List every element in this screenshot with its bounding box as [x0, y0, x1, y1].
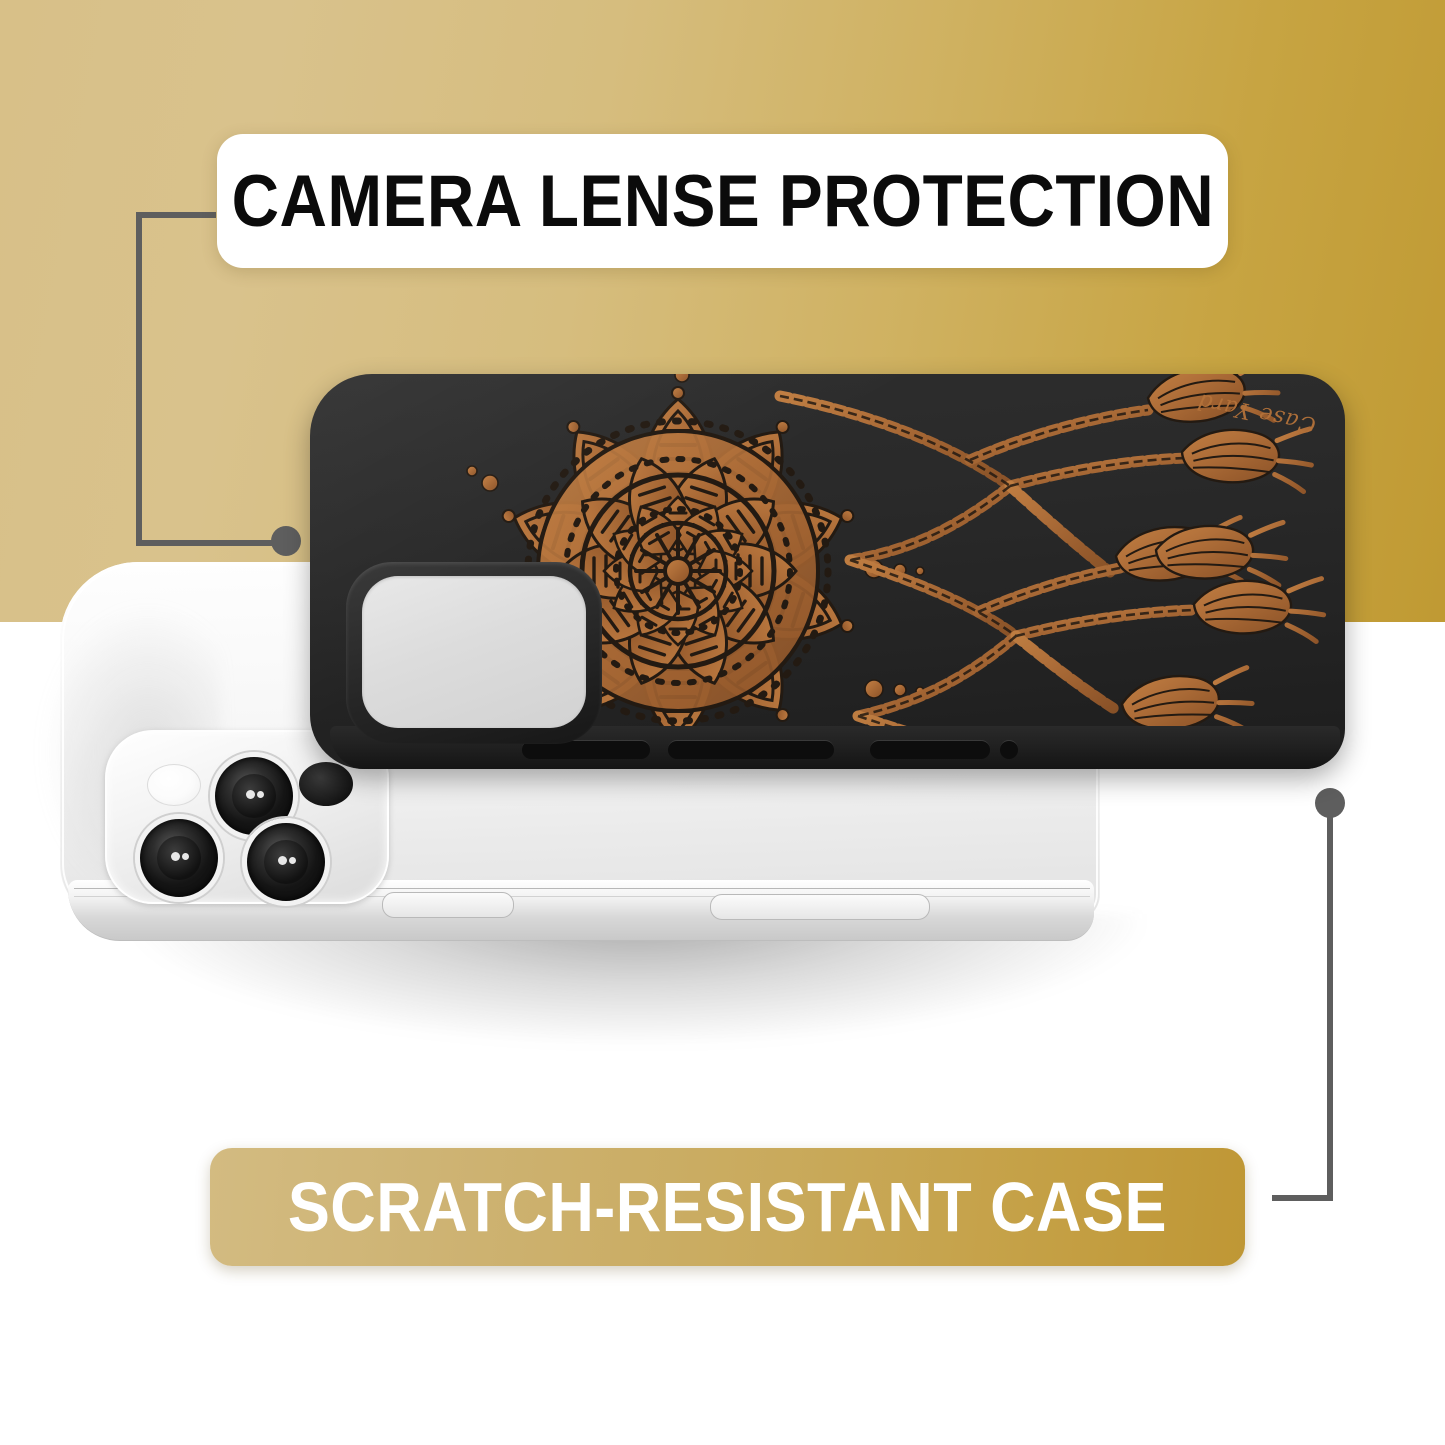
camera-lens-icon: [135, 814, 223, 902]
callout-label-camera-protection: CAMERA LENSE PROTECTION: [217, 134, 1228, 268]
callout-dot-camera-protection: [271, 526, 301, 556]
case-body: Case Yard: [310, 374, 1345, 769]
black-mandala-phone-case: Case Yard: [310, 374, 1345, 774]
callout-connector-top-vertical: [136, 212, 142, 546]
case-camera-cutout: [362, 576, 586, 728]
callout-label-scratch-resistant: SCRATCH-RESISTANT CASE: [210, 1148, 1245, 1266]
callout-label-text: CAMERA LENSE PROTECTION: [231, 160, 1214, 243]
case-button-cutout: [870, 740, 990, 759]
callout-connector-bottom-vertical: [1327, 803, 1333, 1201]
callout-connector-top-horizontal-upper: [136, 212, 216, 218]
volume-button[interactable]: [382, 892, 514, 918]
case-button-cutout: [1000, 740, 1018, 759]
product-feature-graphic: Case Yard CAMERA LENSE PROTECTION SCRATC…: [0, 0, 1445, 1445]
camera-lens-icon: [242, 818, 330, 906]
callout-connector-top-horizontal-lower: [136, 540, 286, 546]
callout-connector-bottom-horizontal: [1272, 1195, 1333, 1201]
power-button[interactable]: [710, 894, 930, 920]
callout-label-text: SCRATCH-RESISTANT CASE: [288, 1167, 1167, 1247]
case-button-cutout: [668, 740, 834, 759]
brand-signature: Case Yard: [1195, 388, 1318, 438]
flash-icon: [147, 764, 201, 806]
